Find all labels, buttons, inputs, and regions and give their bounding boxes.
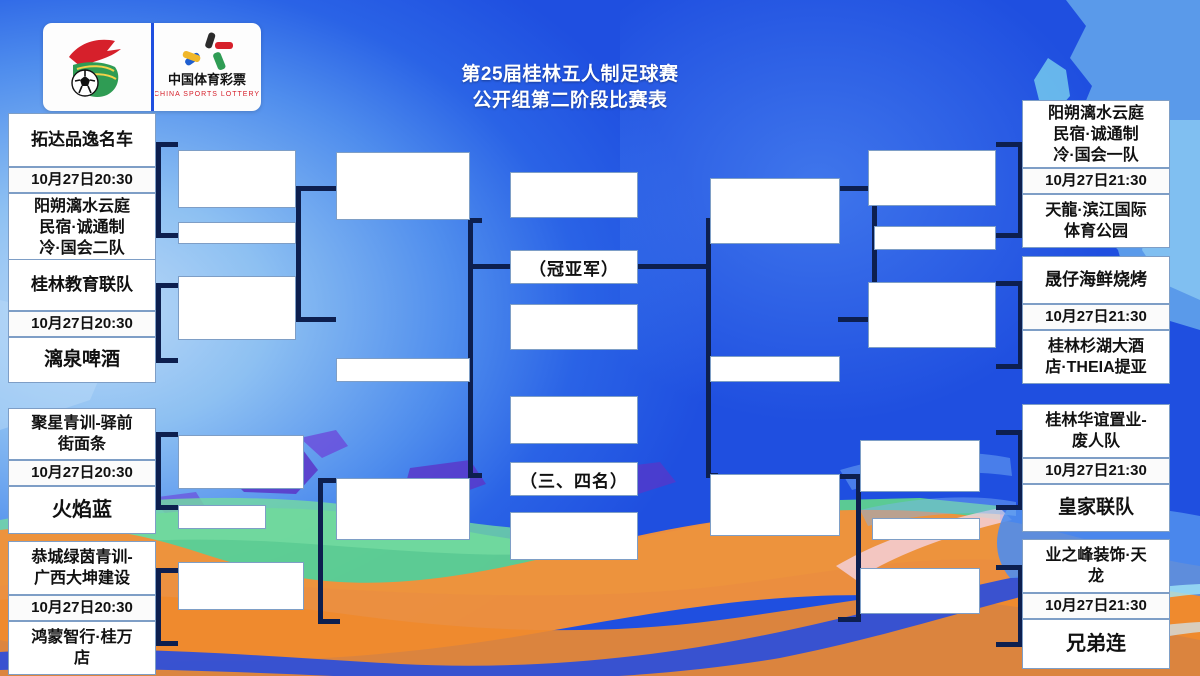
- connector-right-b-h2: [996, 364, 1023, 369]
- connector-left-r3-h1: [468, 218, 482, 223]
- title-line-1: 第25届桂林五人制足球赛: [380, 62, 760, 88]
- connector-left-d-v: [156, 568, 161, 646]
- left-r1-m3-time: 10月27日20:30: [8, 460, 156, 486]
- left-r2-slot-1[interactable]: [178, 150, 296, 208]
- right-r1-m2-team-bottom[interactable]: 桂林杉湖大酒 店·THEIA提亚: [1022, 330, 1170, 384]
- bracket-page: 中国体育彩票 CHINA SPORTS LOTTERY 第25届桂林五人制足球赛…: [0, 0, 1200, 676]
- third-slot-top[interactable]: [510, 396, 638, 444]
- left-r1-m1-time: 10月27日20:30: [8, 167, 156, 193]
- connector-left-r3-v: [468, 218, 473, 478]
- left-r1-m4-team-bottom[interactable]: 鸿蒙智行·桂万 店: [8, 621, 156, 675]
- right-r1-m4-team-bottom[interactable]: 兄弟连: [1022, 619, 1170, 669]
- right-r3-slot-1[interactable]: [710, 178, 840, 244]
- connector-right-r2-dn-h1: [838, 474, 861, 479]
- right-r1-m3-team-top[interactable]: 桂林华谊置业- 废人队: [1022, 404, 1170, 458]
- chinese-football-association-logo: [43, 23, 151, 111]
- left-r1-m4-time: 10月27日20:30: [8, 595, 156, 621]
- left-r2-slot-4[interactable]: [178, 562, 304, 610]
- right-r1-m3-team-bottom[interactable]: 皇家联队: [1022, 484, 1170, 532]
- left-r1-m1-team-bottom[interactable]: 阳朔漓水云庭 民宿·诚通制 冷·国会二队: [8, 193, 156, 261]
- left-r2-time-2[interactable]: [178, 505, 266, 529]
- connector-right-r2-dn-h2: [838, 617, 861, 622]
- connector-right-a-h1: [996, 142, 1023, 147]
- connector-right-a-h2: [996, 233, 1023, 238]
- connector-right-c-h2: [996, 505, 1023, 510]
- china-sports-lottery-logo: 中国体育彩票 CHINA SPORTS LOTTERY: [154, 23, 262, 111]
- right-r1-m1-team-bottom[interactable]: 天龍·滨江国际 体育公园: [1022, 194, 1170, 248]
- left-r1-m2-team-top[interactable]: 桂林教育联队: [8, 259, 156, 311]
- connector-left-to-final: [468, 264, 512, 269]
- right-r1-m1-team-top[interactable]: 阳朔漓水云庭 民宿·诚通制 冷·国会一队: [1022, 100, 1170, 168]
- left-r1-m2-team-bottom[interactable]: 漓泉啤酒: [8, 337, 156, 383]
- right-r1-m3-time: 10月27日21:30: [1022, 458, 1170, 484]
- connector-left-c-h2: [156, 505, 178, 510]
- connector-left-r3-h2: [468, 473, 482, 478]
- connector-left-c-h1: [156, 432, 178, 437]
- connector-left-r2-up-v: [296, 186, 301, 322]
- page-title: 第25届桂林五人制足球赛 公开组第二阶段比赛表: [380, 62, 760, 114]
- connector-left-c-v: [156, 432, 161, 510]
- left-r1-m2-time: 10月27日20:30: [8, 311, 156, 337]
- left-r1-m4-team-top[interactable]: 恭城绿茵青训- 广西大坤建设: [8, 541, 156, 595]
- connector-right-d-h2: [996, 642, 1023, 647]
- right-r2-slot-3[interactable]: [860, 440, 980, 492]
- right-r3-slot-2[interactable]: [710, 474, 840, 536]
- connector-left-a-h2: [156, 233, 178, 238]
- right-r2-time-1[interactable]: [874, 226, 996, 250]
- connector-left-b-h2: [156, 358, 178, 363]
- connector-left-d-h2: [156, 641, 178, 646]
- right-r3-time-1[interactable]: [710, 356, 840, 382]
- right-r1-m4-time: 10月27日21:30: [1022, 593, 1170, 619]
- connector-right-d-h1: [996, 565, 1023, 570]
- svg-text:CHINA SPORTS LOTTERY: CHINA SPORTS LOTTERY: [155, 91, 259, 98]
- left-r3-slot-2[interactable]: [336, 478, 470, 540]
- connector-right-c-h1: [996, 430, 1023, 435]
- third-place-label: （三、四名）: [510, 462, 638, 496]
- left-r2-time-1[interactable]: [178, 222, 296, 244]
- final-slot-bottom[interactable]: [510, 304, 638, 350]
- right-r2-slot-1[interactable]: [868, 150, 996, 206]
- right-r2-slot-2[interactable]: [868, 282, 996, 348]
- final-slot-top[interactable]: [510, 172, 638, 218]
- connector-left-d-h1: [156, 568, 178, 573]
- final-label: （冠亚军）: [510, 250, 638, 284]
- connector-left-r2-up-h2: [296, 317, 336, 322]
- svg-text:中国体育彩票: 中国体育彩票: [168, 72, 246, 88]
- connector-right-r3-v: [706, 218, 711, 478]
- right-r2-time-2[interactable]: [872, 518, 980, 540]
- connector-left-r2-dn-h2: [318, 619, 340, 624]
- right-r1-m4-team-top[interactable]: 业之峰装饰·天 龙: [1022, 539, 1170, 593]
- left-r2-slot-3[interactable]: [178, 435, 304, 489]
- third-slot-bottom[interactable]: [510, 512, 638, 560]
- connector-left-a-v: [156, 142, 161, 238]
- connector-left-r2-dn-v: [318, 478, 323, 624]
- left-r3-time-1[interactable]: [336, 358, 470, 382]
- title-line-2: 公开组第二阶段比赛表: [380, 88, 760, 114]
- right-r2-slot-4[interactable]: [860, 568, 980, 614]
- left-r1-m3-team-bottom[interactable]: 火焰蓝: [8, 486, 156, 534]
- connector-left-r2-up-h1: [296, 186, 336, 191]
- connector-left-b-v: [156, 283, 161, 363]
- right-r1-m2-team-top[interactable]: 晟仔海鲜烧烤: [1022, 256, 1170, 304]
- right-r1-m2-time: 10月27日21:30: [1022, 304, 1170, 330]
- right-r1-m1-time: 10月27日21:30: [1022, 168, 1170, 194]
- logo-bar: 中国体育彩票 CHINA SPORTS LOTTERY: [43, 23, 261, 111]
- left-r1-m3-team-top[interactable]: 聚星青训-驿前 街面条: [8, 408, 156, 460]
- left-r3-slot-1[interactable]: [336, 152, 470, 220]
- connector-left-b-h1: [156, 283, 178, 288]
- left-r1-m1-team-top[interactable]: 拓达品逸名车: [8, 113, 156, 167]
- connector-left-a-h1: [156, 142, 178, 147]
- left-r2-slot-2[interactable]: [178, 276, 296, 340]
- connector-right-b-h1: [996, 281, 1023, 286]
- connector-right-to-final: [636, 264, 710, 269]
